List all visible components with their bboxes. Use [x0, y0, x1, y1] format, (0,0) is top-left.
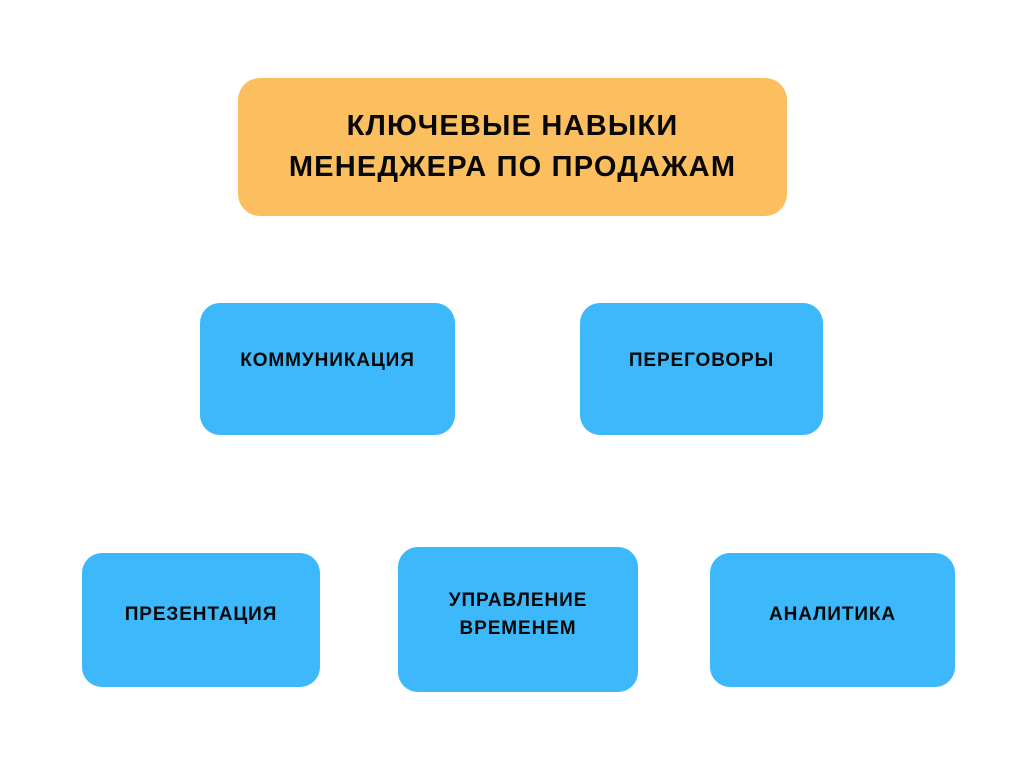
skill-card-communication[interactable]: КОММУНИКАЦИЯ: [200, 303, 455, 435]
key-skills-title-card[interactable]: КЛЮЧЕВЫЕ НАВЫКИ МЕНЕДЖЕРА ПО ПРОДАЖАМ: [238, 78, 787, 216]
key-skills-title-line-1: КЛЮЧЕВЫЕ НАВЫКИ: [347, 106, 679, 147]
skill-label-time-management-line-2: ВРЕМЕНЕМ: [460, 615, 577, 643]
skill-label-communication: КОММУНИКАЦИЯ: [240, 347, 415, 375]
skill-card-presentation[interactable]: ПРЕЗЕНТАЦИЯ: [82, 553, 320, 687]
skill-card-negotiation[interactable]: ПЕРЕГОВОРЫ: [580, 303, 823, 435]
skill-label-presentation: ПРЕЗЕНТАЦИЯ: [125, 601, 278, 629]
skill-card-analytics[interactable]: АНАЛИТИКА: [710, 553, 955, 687]
skill-card-time-management[interactable]: УПРАВЛЕНИЕ ВРЕМЕНЕМ: [398, 547, 638, 692]
slide-canvas: КЛЮЧЕВЫЕ НАВЫКИ МЕНЕДЖЕРА ПО ПРОДАЖАМ КО…: [0, 0, 1024, 768]
key-skills-title-line-2: МЕНЕДЖЕРА ПО ПРОДАЖАМ: [289, 147, 736, 188]
skill-label-time-management-line-1: УПРАВЛЕНИЕ: [449, 587, 588, 615]
skill-label-analytics: АНАЛИТИКА: [769, 601, 896, 629]
skill-label-negotiation: ПЕРЕГОВОРЫ: [629, 347, 774, 375]
